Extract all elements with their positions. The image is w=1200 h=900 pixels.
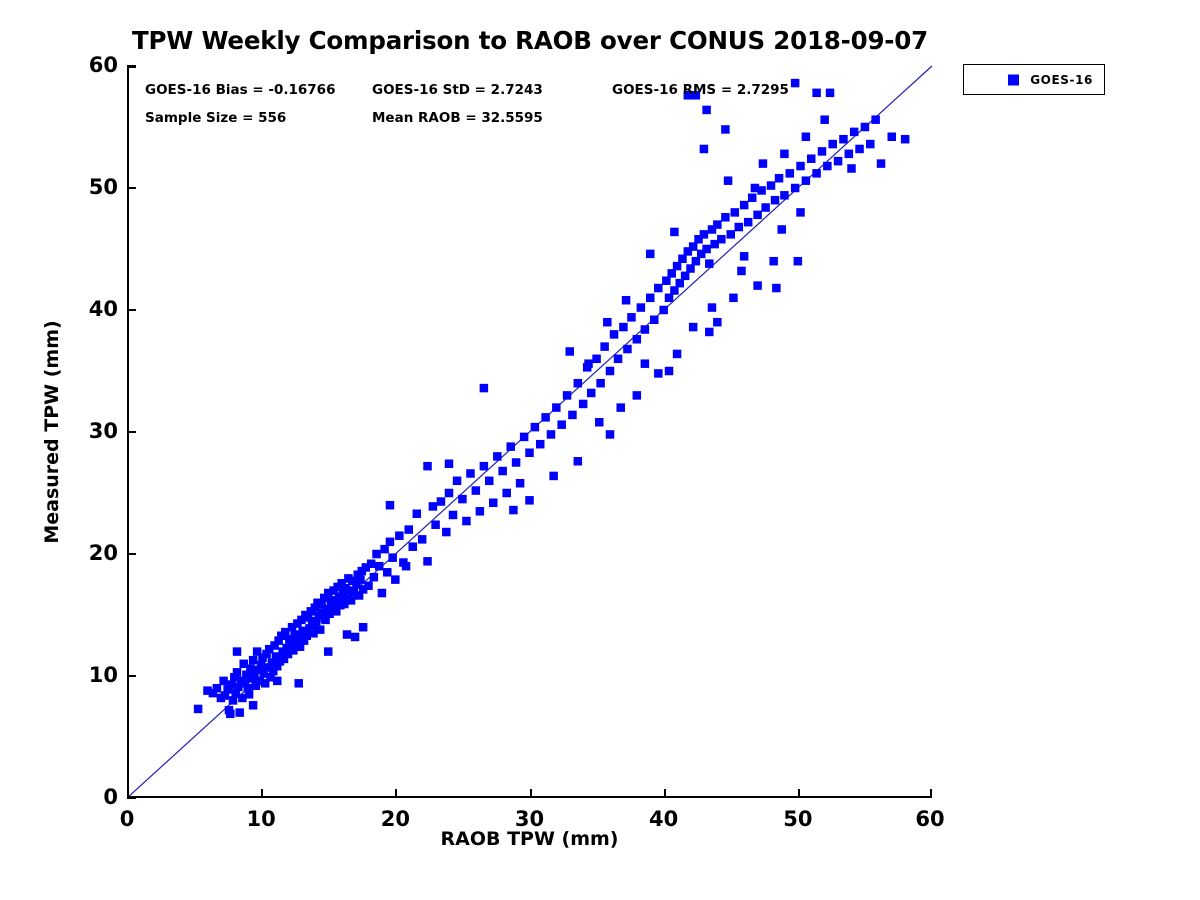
data-point [525, 496, 534, 505]
data-point [818, 147, 827, 156]
y-tick-label: 60 [89, 53, 118, 77]
data-point [245, 690, 254, 699]
data-point [600, 342, 609, 351]
data-point [480, 462, 489, 471]
data-point [901, 135, 910, 144]
y-tick: 50 [127, 187, 136, 189]
plot-area: 0102030405060 0102030405060 [127, 66, 932, 798]
data-point [627, 313, 636, 322]
data-point [877, 159, 886, 168]
data-point [536, 440, 545, 449]
data-point [437, 497, 446, 506]
data-point [525, 448, 534, 457]
data-point [775, 174, 784, 183]
data-point [219, 677, 228, 686]
data-point [606, 367, 615, 376]
data-point [780, 191, 789, 200]
data-point [472, 486, 481, 495]
data-point [423, 462, 432, 471]
data-point [847, 164, 856, 173]
y-tick: 40 [127, 309, 136, 311]
data-point [566, 347, 575, 356]
data-point [574, 379, 583, 388]
data-point [616, 403, 625, 412]
data-point [761, 203, 770, 212]
data-point [735, 223, 744, 232]
data-point [771, 196, 780, 205]
data-point [498, 467, 507, 476]
data-point [619, 323, 628, 332]
data-point [316, 625, 325, 634]
data-point [665, 294, 674, 303]
data-point [531, 423, 540, 432]
data-point [603, 318, 612, 327]
data-point [780, 150, 789, 159]
data-point [654, 284, 663, 293]
data-point [866, 140, 875, 149]
data-point [845, 150, 854, 159]
data-point [364, 581, 373, 590]
stat-bias: GOES-16 Bias = -0.16766 [145, 82, 335, 98]
y-tick: 30 [127, 431, 136, 433]
data-point [356, 575, 365, 584]
data-point [324, 647, 333, 656]
y-tick-label: 30 [89, 419, 118, 443]
page-title: TPW Weekly Comparison to RAOB over CONUS… [0, 26, 1060, 55]
data-point [229, 696, 238, 705]
data-point [442, 528, 451, 537]
y-tick-label: 10 [89, 663, 118, 687]
data-point [700, 145, 709, 154]
data-point [367, 560, 376, 569]
data-point [727, 230, 736, 239]
data-point [641, 325, 650, 334]
data-point [753, 281, 762, 290]
data-point [689, 242, 698, 251]
data-point [744, 218, 753, 227]
data-point [489, 499, 498, 508]
data-point [445, 459, 454, 468]
data-point [405, 525, 414, 534]
data-point [767, 181, 776, 190]
data-point [418, 535, 427, 544]
data-point [606, 430, 615, 439]
data-point [380, 545, 389, 554]
data-point [502, 489, 511, 498]
stat-rms: GOES-16 RMS = 2.7295 [612, 82, 789, 98]
x-tick: 30 [530, 789, 532, 798]
data-point [512, 458, 521, 467]
data-point [233, 668, 242, 677]
data-point [453, 477, 462, 486]
data-point [370, 573, 379, 582]
data-point [702, 245, 711, 254]
data-point [724, 176, 733, 185]
data-point [476, 507, 485, 516]
x-tick: 20 [395, 789, 397, 798]
data-point [791, 184, 800, 193]
data-point [637, 303, 646, 312]
data-point [740, 201, 749, 210]
data-point [826, 89, 835, 98]
data-point [717, 235, 726, 244]
stat-mean-raob: Mean RAOB = 32.5595 [372, 110, 543, 126]
data-point [592, 355, 601, 364]
data-point [702, 106, 711, 115]
data-point [791, 79, 800, 88]
data-point [633, 335, 642, 344]
data-point [729, 294, 738, 303]
data-point [678, 255, 687, 264]
data-point [861, 123, 870, 132]
data-point [413, 509, 422, 518]
data-point [194, 705, 203, 714]
data-point [721, 125, 730, 134]
data-point [751, 184, 760, 193]
data-point [485, 477, 494, 486]
y-tick-label: 20 [89, 541, 118, 565]
data-point [622, 296, 631, 305]
data-point [402, 562, 411, 571]
data-point [646, 294, 655, 303]
data-point [646, 250, 655, 259]
data-point [235, 708, 244, 717]
data-point [429, 502, 438, 511]
data-point [796, 208, 805, 217]
data-point [563, 391, 572, 400]
data-point [705, 328, 714, 337]
data-point [378, 589, 387, 598]
data-point [681, 272, 690, 281]
data-point [359, 623, 368, 632]
data-point [375, 562, 384, 571]
data-point [395, 531, 404, 540]
data-point [351, 633, 360, 642]
data-point [828, 140, 837, 149]
data-point [823, 162, 832, 171]
data-point [294, 679, 303, 688]
data-point [568, 411, 577, 420]
data-point [721, 213, 730, 222]
y-tick: 20 [127, 553, 136, 555]
data-point [409, 542, 418, 551]
data-point [786, 169, 795, 178]
scatter-plot-canvas [127, 66, 932, 798]
data-point [493, 452, 502, 461]
data-point [812, 169, 821, 178]
data-point [623, 345, 632, 354]
x-tick: 40 [664, 789, 666, 798]
data-point [713, 220, 722, 229]
data-point [226, 710, 235, 719]
legend-label-goes-16: GOES-16 [1030, 73, 1093, 87]
x-tick: 60 [930, 789, 932, 798]
data-point [273, 677, 282, 686]
data-point [584, 359, 593, 368]
data-point [552, 403, 561, 412]
x-tick: 50 [798, 789, 800, 798]
data-point [610, 330, 619, 339]
data-point [772, 284, 781, 293]
data-point [449, 511, 458, 519]
data-point [246, 664, 255, 673]
data-point [871, 115, 880, 124]
data-point [650, 316, 659, 325]
data-point [753, 211, 762, 220]
data-point [386, 538, 395, 547]
x-axis-label: RAOB TPW (mm) [127, 828, 932, 850]
data-point [391, 575, 400, 584]
y-tick-label: 0 [103, 785, 118, 809]
data-point [667, 269, 676, 278]
data-point [641, 359, 650, 368]
data-point [541, 413, 550, 422]
stat-sample-size: Sample Size = 556 [145, 110, 286, 126]
data-point [343, 630, 352, 639]
data-point [614, 355, 623, 364]
data-point [595, 418, 604, 427]
data-point [850, 128, 859, 137]
data-point [386, 501, 395, 510]
data-point [480, 384, 489, 393]
data-point [759, 159, 768, 168]
chart-figure: TPW Weekly Comparison to RAOB over CONUS… [0, 0, 1200, 900]
data-point [633, 391, 642, 400]
data-point [689, 323, 698, 332]
y-tick: 60 [127, 65, 136, 67]
y-axis-label: Measured TPW (mm) [41, 282, 63, 582]
legend-swatch-goes-16 [1008, 74, 1019, 85]
data-point [737, 267, 746, 276]
data-point [807, 154, 816, 163]
data-point [777, 225, 786, 234]
data-point [445, 489, 454, 498]
data-point [547, 430, 556, 439]
legend: GOES-16 [963, 64, 1105, 95]
data-point [748, 194, 757, 203]
stat-std: GOES-16 StD = 2.7243 [372, 82, 543, 98]
data-point [509, 506, 518, 514]
data-point [802, 176, 811, 185]
x-tick: 10 [261, 789, 263, 798]
data-point [855, 145, 864, 154]
data-point [673, 350, 682, 359]
data-point [372, 550, 381, 559]
data-point [516, 479, 525, 488]
data-point [713, 318, 722, 327]
data-point [700, 230, 709, 239]
data-point [549, 472, 558, 481]
data-point [587, 389, 596, 398]
y-tick-label: 40 [89, 297, 118, 321]
data-point [458, 495, 467, 504]
data-point [888, 133, 897, 142]
data-point [557, 420, 566, 429]
data-point [506, 442, 515, 451]
data-point [347, 596, 356, 605]
y-tick-label: 50 [89, 175, 118, 199]
data-point [249, 701, 258, 710]
data-point [466, 469, 475, 478]
data-point [596, 379, 605, 388]
data-point [740, 252, 749, 261]
data-point [431, 520, 440, 529]
data-point [659, 306, 668, 315]
data-point [705, 259, 714, 268]
data-point [670, 286, 679, 295]
data-point [423, 557, 432, 566]
data-point-group [194, 79, 910, 718]
data-point [769, 257, 778, 266]
data-point [388, 553, 397, 562]
data-point [462, 517, 471, 526]
data-point [796, 162, 805, 171]
data-point [662, 276, 671, 285]
data-point [834, 157, 843, 166]
data-point [579, 400, 588, 409]
data-point [520, 433, 529, 442]
data-point [574, 457, 583, 466]
data-point [654, 369, 663, 378]
data-point [670, 228, 679, 237]
data-point [802, 133, 811, 142]
data-point [692, 257, 701, 266]
data-point [673, 262, 682, 271]
data-point [233, 647, 242, 656]
data-point [812, 89, 821, 98]
data-point [213, 684, 222, 693]
data-point [383, 568, 392, 577]
data-point [708, 303, 717, 312]
data-point [249, 656, 258, 665]
data-point [820, 115, 829, 124]
data-point [676, 279, 685, 288]
x-tick: 0 [127, 789, 129, 798]
data-point [731, 208, 740, 217]
data-point [839, 135, 848, 144]
y-tick: 10 [127, 675, 136, 677]
data-point [665, 367, 674, 376]
data-point [686, 264, 695, 273]
data-point [794, 257, 803, 266]
